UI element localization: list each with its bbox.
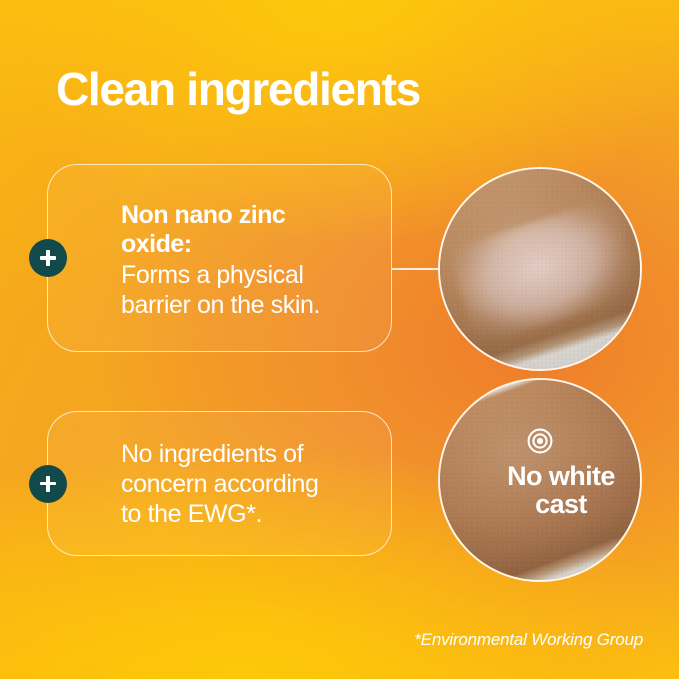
footnote: *Environmental Working Group bbox=[414, 630, 643, 650]
skin-sheen bbox=[438, 167, 642, 371]
skin-photo-scene bbox=[438, 378, 642, 582]
infographic-canvas: Clean ingredients Non nano zinc oxide: F… bbox=[0, 0, 679, 679]
benefit-card-ewg: No ingredients of concern according to t… bbox=[47, 411, 392, 556]
card-body-line-1: Forms a physical bbox=[121, 260, 373, 290]
card-body-line-2: concern according bbox=[121, 469, 373, 499]
zinc-oxide-swatch-photo bbox=[438, 167, 642, 371]
skin-photo-scene bbox=[438, 167, 642, 371]
plus-icon-vertical-bar bbox=[46, 250, 49, 266]
no-white-cast-photo: No white cast bbox=[438, 378, 642, 582]
card-heading-line-2: oxide: bbox=[121, 230, 373, 260]
benefit-card-zinc-oxide: Non nano zinc oxide: Forms a physical ba… bbox=[47, 164, 392, 352]
card-heading-line-1: Non nano zinc bbox=[121, 201, 373, 231]
plus-icon bbox=[29, 465, 67, 503]
plus-icon bbox=[29, 239, 67, 277]
card-body-line-3: to the EWG*. bbox=[121, 499, 373, 529]
page-title: Clean ingredients bbox=[56, 64, 420, 116]
skin-sheen bbox=[438, 378, 642, 582]
card-body-line-2: barrier on the skin. bbox=[121, 290, 373, 320]
benefit-card-ewg-text: No ingredients of concern according to t… bbox=[121, 412, 373, 555]
plus-icon-vertical-bar bbox=[46, 476, 49, 492]
benefit-card-zinc-oxide-text: Non nano zinc oxide: Forms a physical ba… bbox=[121, 165, 373, 353]
card-body-line-1: No ingredients of bbox=[121, 439, 373, 469]
